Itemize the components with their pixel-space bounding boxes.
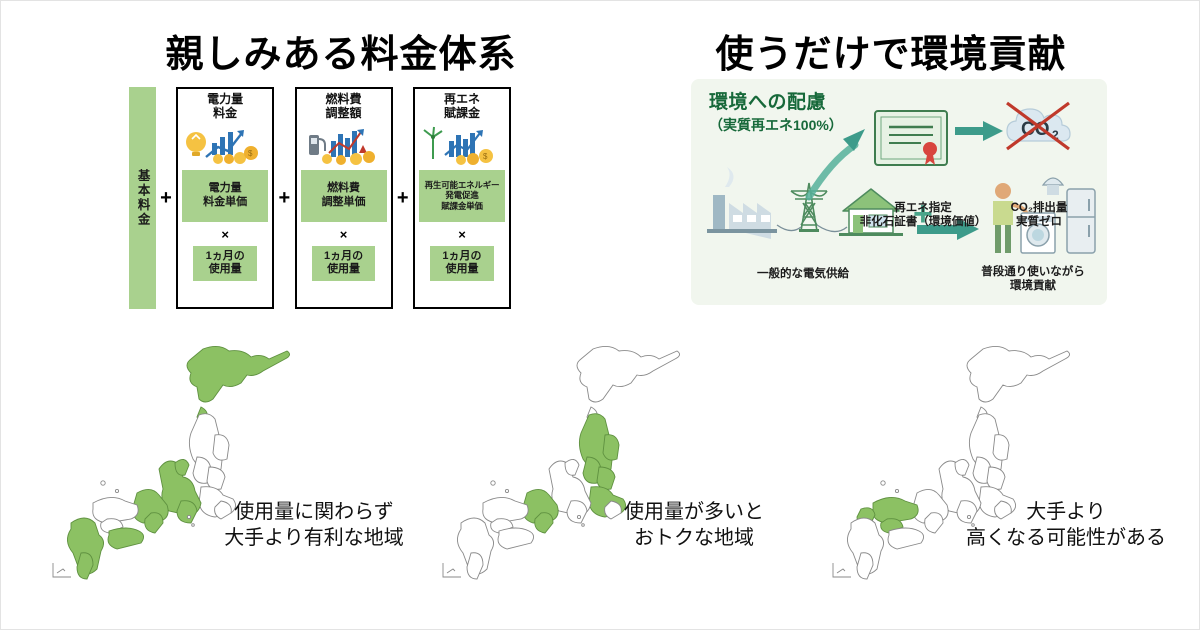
fee-card-title: 電力量 料金: [207, 93, 243, 121]
fee-card-electricity: 電力量 料金 $ 電力量 料金単価: [176, 87, 274, 309]
fee-card-renewable-levy: 再エネ 賦課金 $: [413, 87, 511, 309]
eco-label-supply: 一般的な電気供給: [713, 267, 893, 281]
fuel-pump-chart-coins-icon: [301, 125, 387, 167]
monthly-usage-box: 1ヵ月の 使用量: [430, 246, 494, 282]
map-block-higher-cost: 大手より 高くなる可能性がある: [791, 331, 1191, 621]
times-sign: ×: [458, 227, 466, 242]
eco-label-co2: CO₂排出量 実質ゼロ: [979, 201, 1099, 230]
base-fee-label: 基本料金: [136, 169, 149, 227]
lightbulb-growth-chart-coins-icon: $: [182, 125, 268, 167]
okinawa-inset: [443, 563, 461, 577]
page-title-right: 使うだけで環境貢献: [701, 23, 1081, 78]
arrow-to-co2: [955, 121, 1003, 141]
eco-label-daily-use: 普段通り使いながら 環境貢献: [963, 265, 1103, 294]
map-block-high-usage: 使用量が多いと おトクな地域: [401, 331, 801, 621]
fee-structure-diagram: 基本料金 + 電力量 料金 $: [129, 87, 511, 309]
plus-sign-1: +: [156, 87, 176, 309]
certificate-icon: [875, 111, 947, 165]
wind-turbine-chart-coins-icon: $: [419, 125, 505, 167]
monthly-usage-box: 1ヵ月の 使用量: [193, 246, 257, 282]
fee-card-fuel-adjustment: 燃料費 調整額: [295, 87, 393, 309]
times-sign: ×: [221, 227, 229, 242]
times-sign: ×: [340, 227, 348, 242]
plus-sign-2: +: [274, 87, 294, 309]
okinawa-inset: [833, 563, 851, 577]
fee-card-title: 再エネ 賦課金: [444, 93, 480, 121]
unit-price-box: 燃料費 調整単価: [301, 170, 387, 222]
okinawa-inset: [53, 563, 71, 577]
monthly-usage-box: 1ヵ月の 使用量: [312, 246, 376, 282]
svg-text:$: $: [248, 149, 253, 158]
unit-price-box: 電力量 料金単価: [182, 170, 268, 222]
base-fee-box: 基本料金: [129, 87, 156, 309]
map-block-advantageous: 使用量に関わらず 大手より有利な地域: [11, 331, 411, 621]
co2-cloud-crossed-icon: CO 2: [1007, 103, 1070, 149]
map-caption-3: 大手より 高くなる可能性がある: [941, 499, 1191, 551]
environmental-contribution-panel: 環境への配慮 （実質再エネ100%）: [691, 79, 1107, 305]
curved-arrow-to-certificate: [809, 129, 865, 197]
power-pylon-icon: [791, 183, 827, 232]
svg-text:$: $: [483, 152, 488, 161]
fee-card-title: 燃料費 調整額: [326, 93, 362, 121]
plus-sign-3: +: [393, 87, 413, 309]
factory-icon: [707, 167, 777, 239]
infographic-root: 親しみある料金体系 使うだけで環境貢献 基本料金 + 電力量 料金: [0, 0, 1200, 630]
map-caption-2: 使用量が多いと おトクな地域: [569, 499, 819, 551]
page-title-left: 親しみある料金体系: [151, 23, 531, 78]
unit-price-box: 再生可能エネルギー 発電促進 賦課金単価: [419, 170, 505, 222]
